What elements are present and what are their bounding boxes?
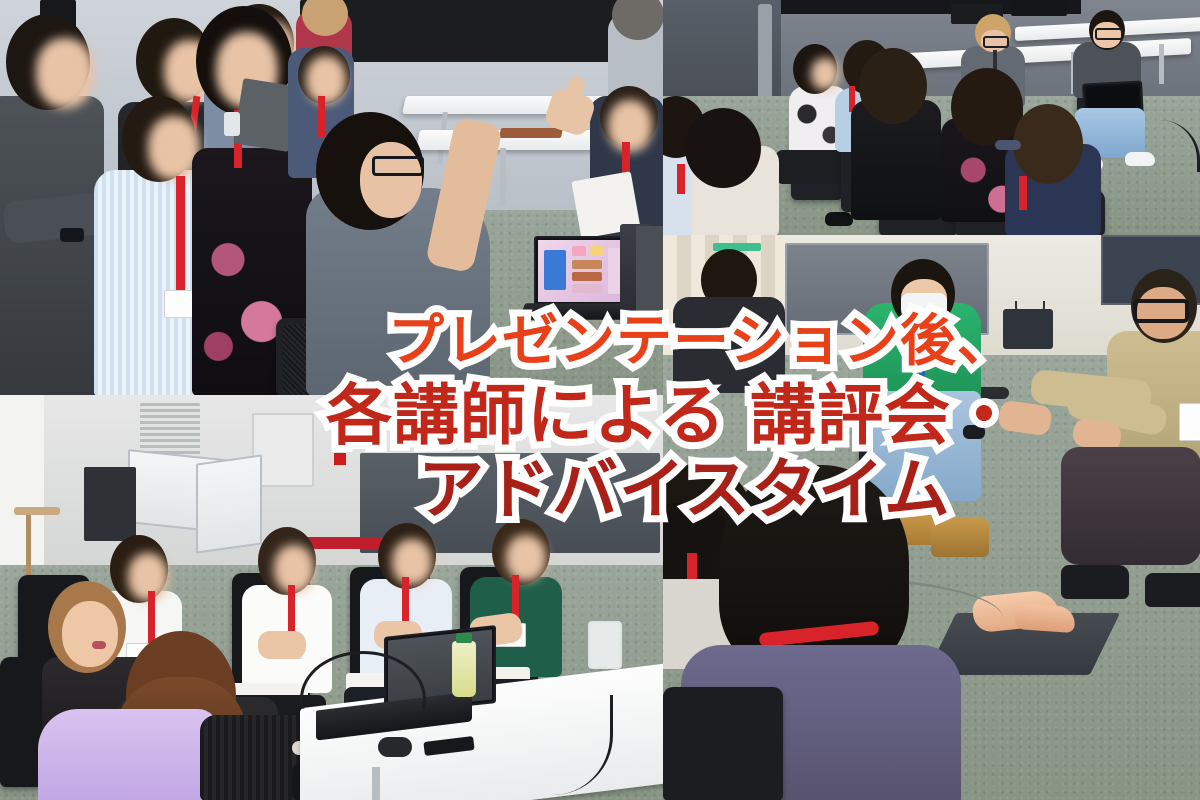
monitor-edge	[636, 226, 663, 344]
emergency-marker	[334, 453, 346, 465]
person-standing-body	[0, 96, 104, 395]
power-cable	[470, 695, 613, 795]
briefcase-handle	[1015, 301, 1045, 315]
eyeglasses-icon	[372, 156, 424, 176]
drink-bottle	[452, 641, 476, 697]
bottle-cap	[456, 633, 472, 643]
blurred-face	[608, 100, 652, 152]
laptop-screen	[534, 236, 630, 306]
chair-stacked	[1011, 0, 1067, 16]
work-boot	[931, 517, 989, 557]
photo-collage: プレゼンテーション後、 プレゼンテーション後、 各講師による 講評会・ 各講師に…	[0, 0, 1200, 800]
leather-shoe	[1061, 565, 1129, 599]
desk-leg	[372, 767, 380, 800]
table-leg	[26, 515, 31, 575]
student-head	[951, 68, 1023, 146]
foreground-student-head	[719, 465, 909, 675]
name-badge	[1179, 403, 1200, 441]
briefcase	[1003, 309, 1053, 349]
student-head	[685, 108, 761, 188]
red-lanyard	[176, 176, 185, 292]
equipment-cart	[84, 467, 136, 541]
red-lanyard	[1019, 176, 1027, 210]
wristwatch	[60, 228, 84, 242]
lavender-jacket-on-chair	[38, 709, 218, 800]
panel-bottom-left	[0, 395, 663, 800]
scene-advice-circle	[0, 395, 663, 800]
red-lanyard	[677, 164, 685, 194]
glass-jar	[588, 621, 622, 669]
scene-instructor-demonstration	[663, 235, 1200, 800]
leather-shoe	[1145, 573, 1200, 607]
drink-cup	[224, 112, 240, 136]
jeans-legs	[869, 391, 981, 501]
panel-top-right	[663, 0, 1200, 235]
wooden-table-edge	[14, 507, 60, 515]
blurred-face	[36, 38, 94, 108]
blurred-face	[811, 58, 839, 90]
table-leg	[1159, 44, 1164, 84]
stored-whiteboard	[196, 454, 262, 553]
student-chair	[663, 687, 783, 800]
blurred-face	[392, 539, 432, 585]
instructor-face	[360, 142, 422, 218]
table-leg	[500, 148, 506, 206]
eyeglasses-icon	[983, 36, 1009, 48]
panel-top-left	[0, 0, 663, 395]
eyeglasses-icon	[1133, 299, 1189, 323]
computer-mouse	[378, 737, 412, 757]
wall-panel	[0, 395, 44, 565]
mouth	[92, 641, 106, 649]
clapping-hands	[258, 631, 306, 659]
scene-seminar-feedback	[663, 0, 1200, 235]
red-lanyard	[318, 96, 325, 138]
presentation-slide	[538, 240, 626, 302]
hair-tie	[995, 140, 1021, 150]
student-legs	[775, 150, 845, 184]
eyeglasses-icon	[1095, 28, 1123, 40]
instructor-legs	[1061, 447, 1200, 565]
printed-material	[499, 128, 563, 138]
student-head-ponytail	[1013, 104, 1083, 184]
student-head	[859, 48, 927, 124]
blurred-face	[306, 56, 346, 104]
panel-bottom-right	[663, 235, 1200, 800]
wristwatch	[963, 425, 985, 439]
scene-instructor-pointing	[0, 0, 663, 395]
blue-lanyard	[919, 319, 925, 391]
instructor-face	[62, 601, 118, 667]
back-person-body	[673, 297, 785, 393]
shoe	[825, 212, 853, 226]
